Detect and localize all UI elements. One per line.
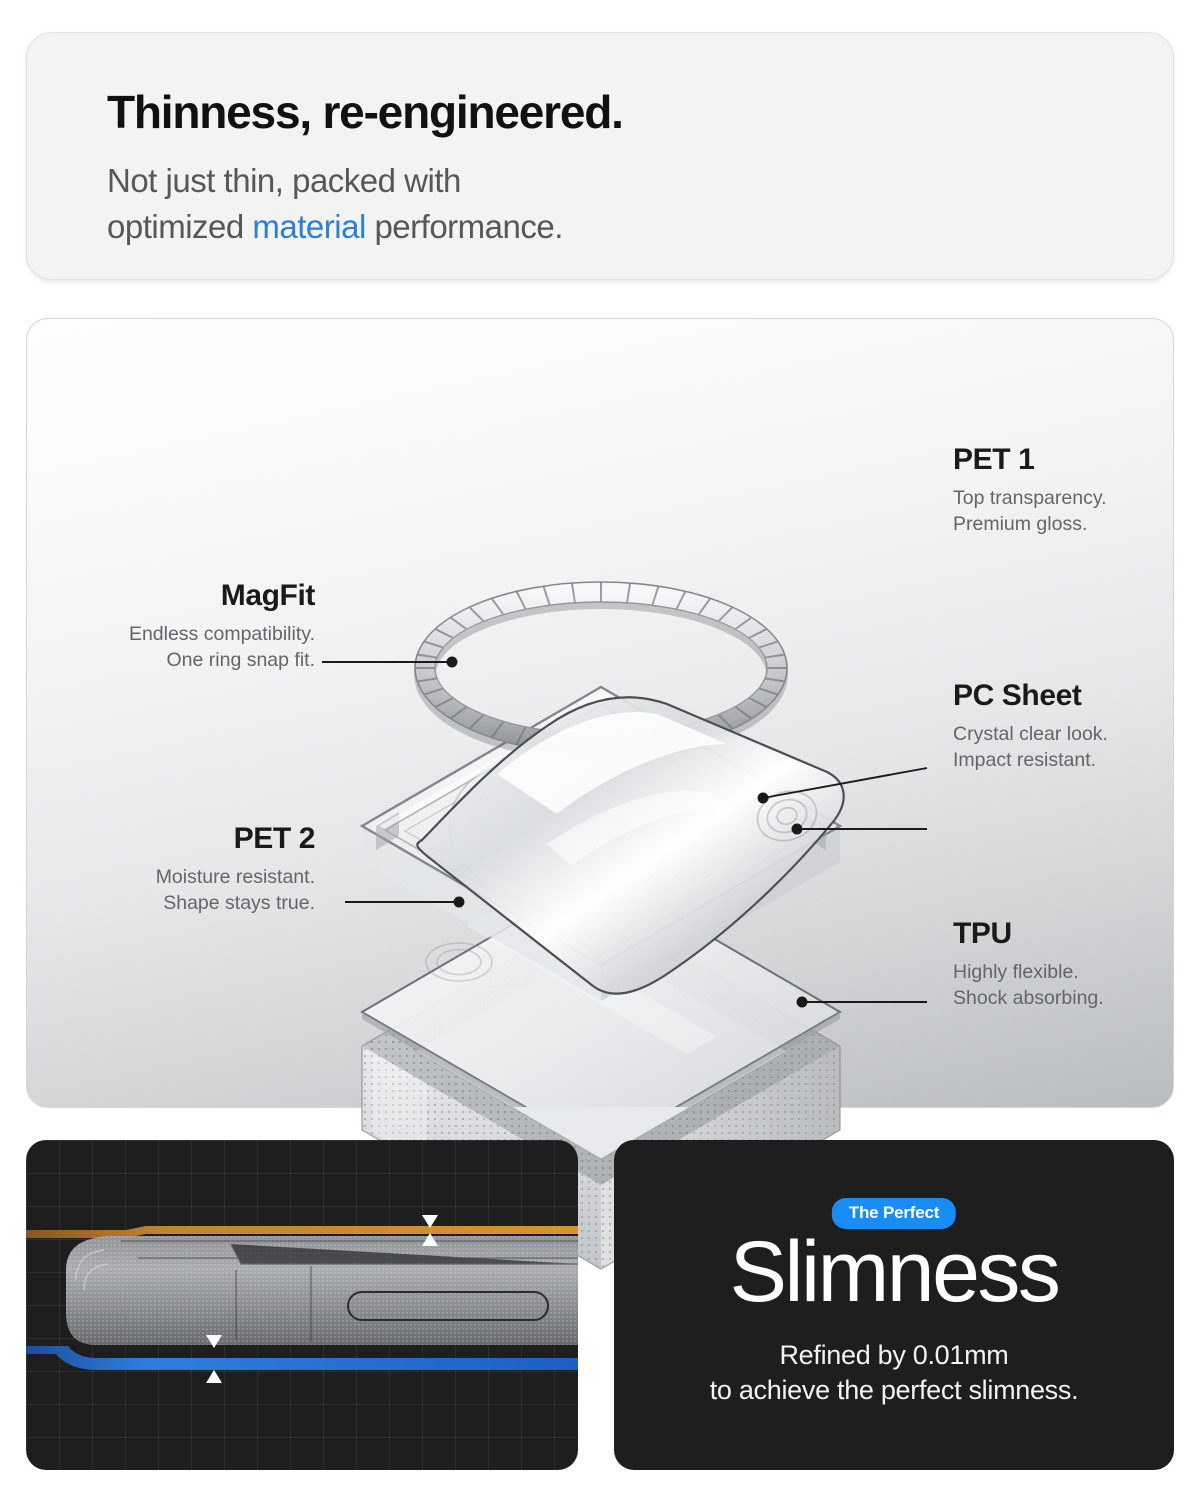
- label-tpu-desc: Highly flexible. Shock absorbing.: [953, 959, 1104, 1011]
- label-pet1: PET 1 Top transparency. Premium gloss.: [953, 445, 1107, 537]
- label-tpu-title: TPU: [953, 919, 1104, 949]
- slimness-sub-line-1: Refined by 0.01mm: [779, 1340, 1008, 1370]
- label-pet2-title: PET 2: [156, 824, 315, 854]
- cross-section-art: [26, 1140, 578, 1470]
- label-pcsheet-desc: Crystal clear look. Impact resistant.: [953, 721, 1108, 773]
- label-magfit-title: MagFit: [129, 581, 315, 611]
- label-magfit: MagFit Endless compatibility. One ring s…: [129, 581, 315, 673]
- exploded-view-panel: PET 1 Top transparency. Premium gloss. M…: [26, 318, 1174, 1108]
- cross-section-panel: [26, 1140, 578, 1470]
- label-tpu-desc-2: Shock absorbing.: [953, 987, 1104, 1009]
- label-pet1-desc: Top transparency. Premium gloss.: [953, 485, 1107, 537]
- header-card: Thinness, re-engineered. Not just thin, …: [26, 32, 1174, 280]
- pet1-layer: [417, 697, 843, 993]
- subtitle-line-2-post: performance.: [366, 208, 563, 245]
- label-pet1-title: PET 1: [953, 445, 1107, 475]
- label-pet2-desc-2: Shape stays true.: [163, 892, 315, 914]
- leader-line-pcsheet: [759, 768, 928, 803]
- page-subtitle: Not just thin, packed with optimized mat…: [107, 158, 563, 249]
- label-pet1-desc-2: Premium gloss.: [953, 513, 1087, 535]
- leader-lines: [322, 658, 927, 1085]
- label-pet2: PET 2 Moisture resistant. Shape stays tr…: [156, 824, 315, 916]
- label-magfit-desc-1: Endless compatibility.: [129, 623, 315, 645]
- label-pet2-desc: Moisture resistant. Shape stays true.: [156, 864, 315, 916]
- pet2-layer: [362, 873, 840, 1107]
- slimness-subtitle: Refined by 0.01mm to achieve the perfect…: [710, 1338, 1079, 1408]
- slimness-panel: The Perfect Slimness Refined by 0.01mm t…: [614, 1140, 1174, 1470]
- magfit-ring-layer: [415, 582, 787, 754]
- label-tpu: TPU Highly flexible. Shock absorbing.: [953, 919, 1104, 1011]
- page-title: Thinness, re-engineered.: [107, 85, 623, 139]
- label-magfit-desc-2: One ring snap fit.: [167, 649, 316, 671]
- label-pcsheet-desc-1: Crystal clear look.: [953, 723, 1108, 745]
- subtitle-accent-word: material: [252, 208, 365, 245]
- slimness-title: Slimness: [730, 1223, 1059, 1322]
- label-pcsheet: PC Sheet Crystal clear look. Impact resi…: [953, 681, 1108, 773]
- label-magfit-desc: Endless compatibility. One ring snap fit…: [129, 621, 315, 673]
- pc-sheet-layer: [362, 687, 840, 1001]
- label-pet1-desc-1: Top transparency.: [953, 487, 1107, 509]
- label-pet2-desc-1: Moisture resistant.: [156, 866, 315, 888]
- slimness-sub-line-2: to achieve the perfect slimness.: [710, 1375, 1079, 1405]
- label-tpu-desc-1: Highly flexible.: [953, 961, 1079, 983]
- subtitle-line-2-pre: optimized: [107, 208, 252, 245]
- label-pcsheet-desc-2: Impact resistant.: [953, 749, 1096, 771]
- subtitle-line-1: Not just thin, packed with: [107, 162, 461, 199]
- bottom-rail: [26, 1346, 578, 1370]
- bottom-panels-row: The Perfect Slimness Refined by 0.01mm t…: [26, 1140, 1174, 1470]
- label-pcsheet-title: PC Sheet: [953, 681, 1108, 711]
